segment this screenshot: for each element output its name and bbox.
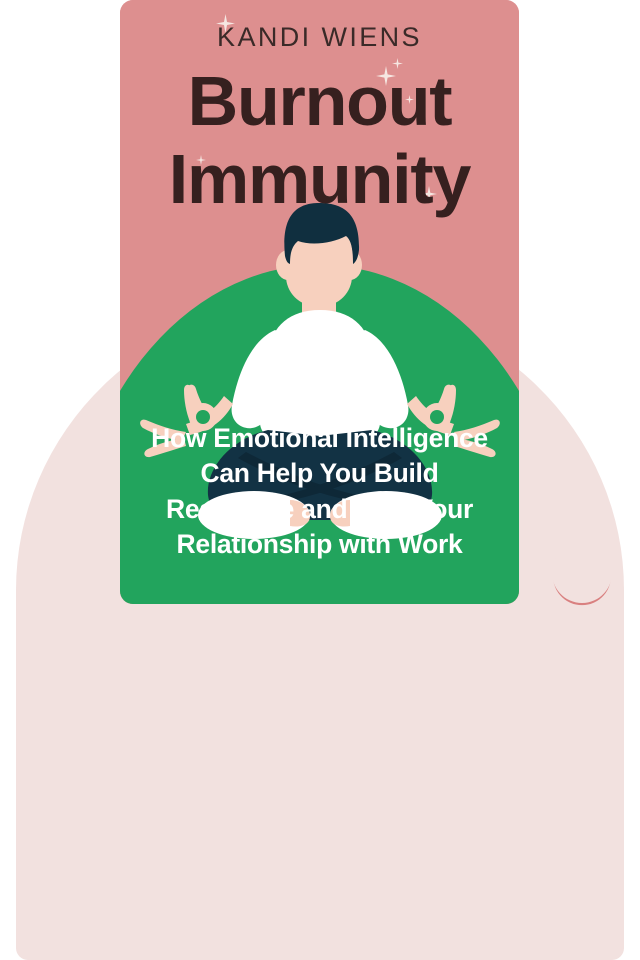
author-name: KANDI WIENS: [120, 24, 519, 51]
subtitle-line-4: Relationship with Work: [134, 527, 505, 562]
blinkist-logo-icon[interactable]: [548, 546, 616, 614]
subtitle-line-2: Can Help You Build: [134, 456, 505, 491]
book-cover-canvas: KANDI WIENS Burnout Immunity How Emotion…: [0, 0, 640, 640]
book-title: Burnout Immunity: [120, 62, 519, 219]
book-subtitle: How Emotional Intelligence Can Help You …: [120, 421, 519, 562]
title-line-2: Immunity: [120, 140, 519, 218]
book-cover-card[interactable]: KANDI WIENS Burnout Immunity How Emotion…: [120, 0, 519, 604]
subtitle-line-1: How Emotional Intelligence: [134, 421, 505, 456]
title-line-1: Burnout: [120, 62, 519, 140]
subtitle-line-3: Resilience and Heal Your: [134, 492, 505, 527]
